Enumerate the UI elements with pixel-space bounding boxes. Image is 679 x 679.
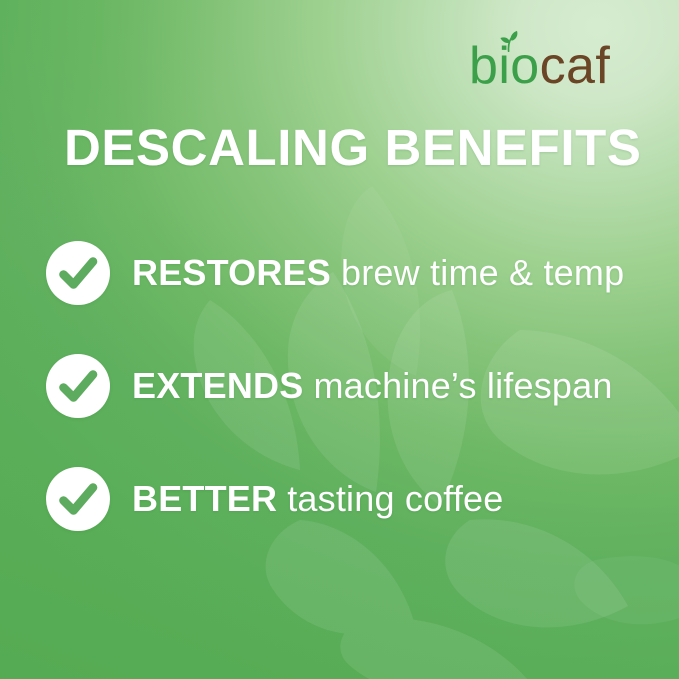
brand-logo-bio: bio (469, 37, 540, 95)
list-item: BETTER tasting coffee (46, 467, 646, 531)
list-item: RESTORES brew time & temp (46, 241, 646, 305)
list-item-detail: tasting coffee (287, 478, 503, 519)
check-mark-icon (46, 354, 110, 418)
list-item-text: EXTENDS machine’s lifespan (132, 368, 613, 404)
brand-logo-caf: caf (540, 37, 611, 95)
check-mark-icon (46, 241, 110, 305)
brand-logo-wordmark: biocaf (469, 40, 610, 92)
list-item: EXTENDS machine’s lifespan (46, 354, 646, 418)
descaling-benefits-poster: biocaf DESCALING BENEFITS RESTORES brew … (0, 0, 679, 679)
list-item-emphasis: BETTER (132, 478, 277, 519)
brand-logo: biocaf (469, 30, 644, 92)
benefits-list: RESTORES brew time & temp EXTENDS machin… (46, 241, 646, 531)
list-item-emphasis: RESTORES (132, 252, 331, 293)
list-item-text: BETTER tasting coffee (132, 481, 504, 517)
list-item-detail: brew time & temp (341, 252, 624, 293)
list-item-detail: machine’s lifespan (313, 365, 612, 406)
list-item-text: RESTORES brew time & temp (132, 255, 624, 291)
check-mark-icon (46, 467, 110, 531)
page-title: DESCALING BENEFITS (64, 122, 642, 173)
list-item-emphasis: EXTENDS (132, 365, 303, 406)
